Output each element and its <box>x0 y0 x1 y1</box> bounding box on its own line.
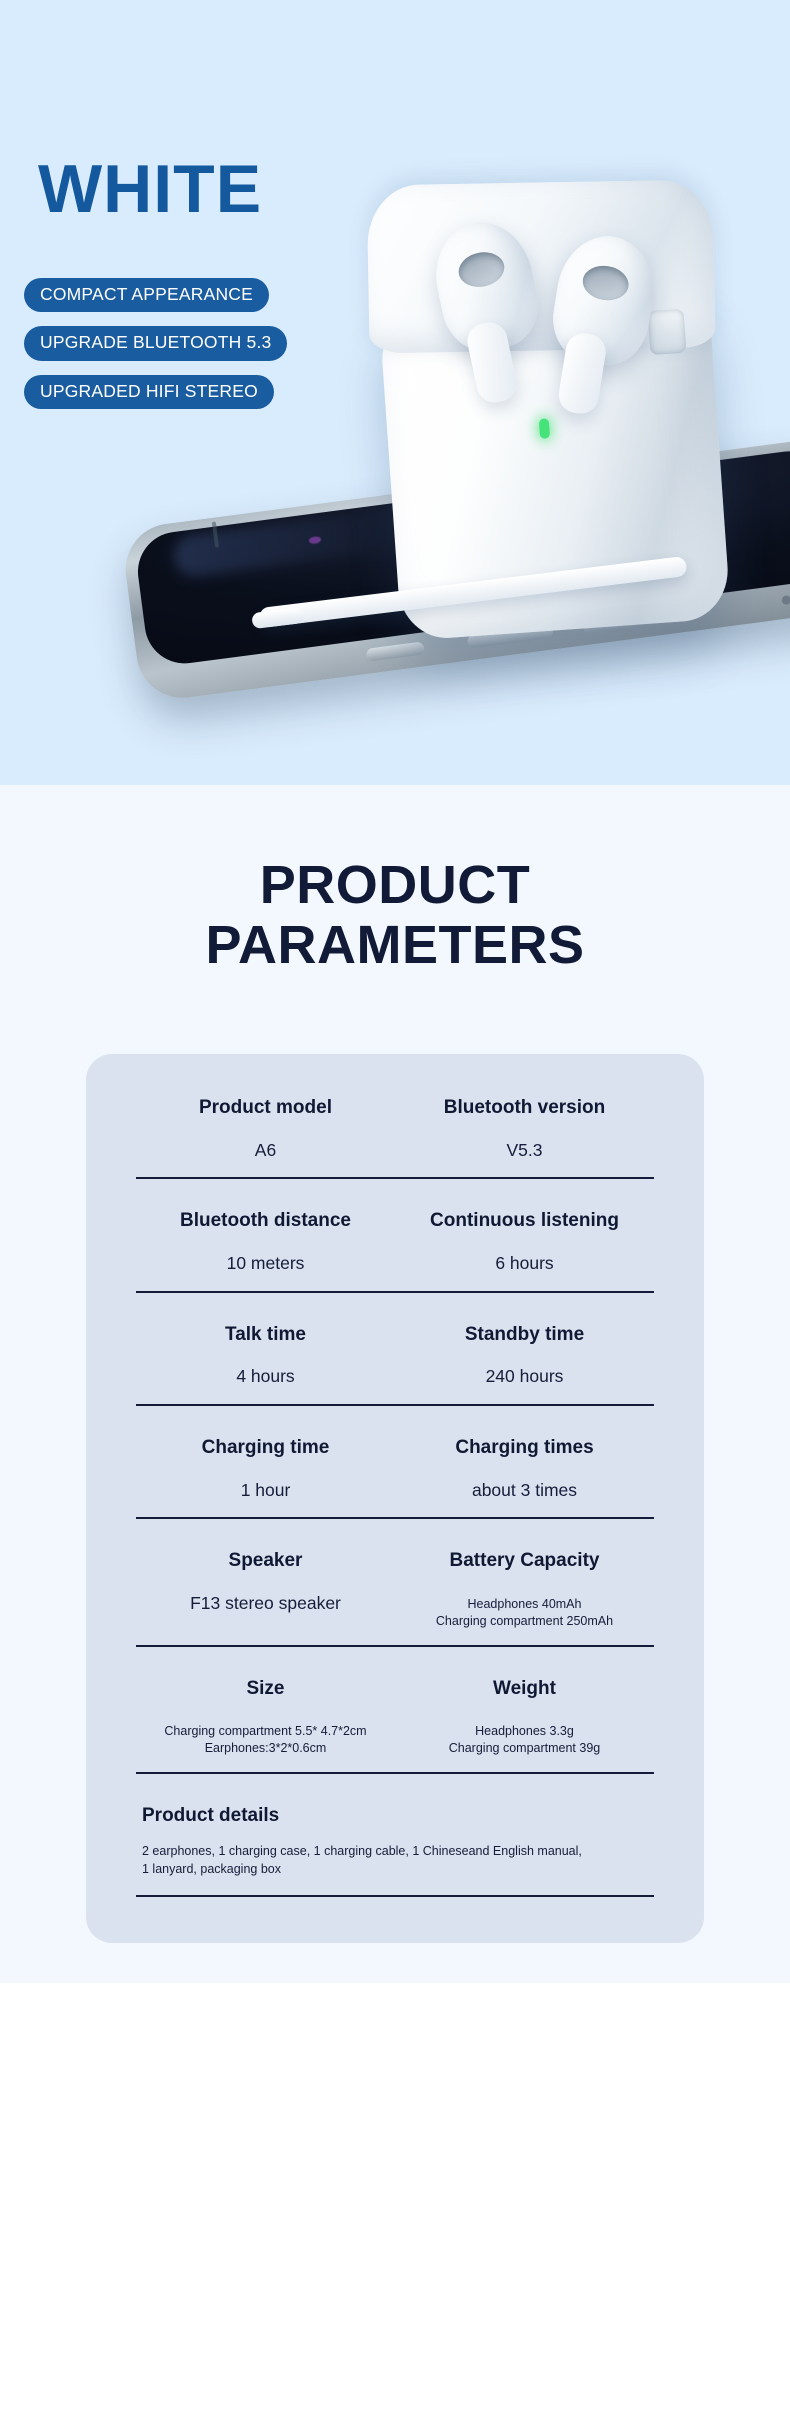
spec-cell-speaker: Speaker F13 stereo speaker <box>136 1549 395 1629</box>
spec-cell-battery-capacity: Battery Capacity Headphones 40mAhChargin… <box>395 1549 654 1629</box>
earbud-speaker-grille <box>455 248 507 291</box>
table-row: Bluetooth distance 10 meters Continuous … <box>136 1209 654 1292</box>
earbud-speaker-grille <box>580 263 631 304</box>
spec-value: F13 stereo speaker <box>140 1592 391 1616</box>
table-row: Size Charging compartment 5.5* 4.7*2cmEa… <box>136 1677 654 1774</box>
table-row: Charging time 1 hour Charging times abou… <box>136 1436 654 1519</box>
spec-cell-product-model: Product model A6 <box>136 1096 395 1162</box>
spec-label: Charging times <box>399 1436 650 1461</box>
spec-cell-weight: Weight Headphones 3.3gCharging compartme… <box>395 1677 654 1757</box>
spec-cell-talk-time: Talk time 4 hours <box>136 1323 395 1389</box>
spec-label: Speaker <box>140 1549 391 1574</box>
feature-badge-hifi-stereo: UPGRADED HIFI STEREO <box>24 375 274 409</box>
spec-value: Charging compartment 5.5* 4.7*2cmEarphon… <box>140 1723 391 1757</box>
spec-label: Bluetooth version <box>399 1096 650 1121</box>
feature-badge-compact-appearance: COMPACT APPEARANCE <box>24 278 269 312</box>
spec-label: Size <box>140 1677 391 1702</box>
lanyard-band <box>258 556 687 628</box>
spec-label: Talk time <box>140 1323 391 1348</box>
feature-badge-bluetooth: UPGRADE BLUETOOTH 5.3 <box>24 326 287 360</box>
hero-banner: WHITE COMPACT APPEARANCE UPGRADE BLUETOO… <box>0 0 790 785</box>
spec-label: Bluetooth distance <box>140 1209 391 1234</box>
spec-value: V5.3 <box>399 1139 650 1163</box>
spec-label: Standby time <box>399 1323 650 1348</box>
spec-table-card: Product model A6 Bluetooth version V5.3 … <box>86 1054 704 1943</box>
spec-cell-standby-time: Standby time 240 hours <box>395 1323 654 1389</box>
phone-speaker-hole <box>781 595 790 605</box>
spec-value: 2 earphones, 1 charging case, 1 charging… <box>136 1842 654 1880</box>
table-row: Talk time 4 hours Standby time 240 hours <box>136 1323 654 1406</box>
spec-cell-charging-times: Charging times about 3 times <box>395 1436 654 1502</box>
spec-value: A6 <box>140 1139 391 1163</box>
spec-cell-size: Size Charging compartment 5.5* 4.7*2cmEa… <box>136 1677 395 1757</box>
spec-cell-charging-time: Charging time 1 hour <box>136 1436 395 1502</box>
hero-title: WHITE <box>38 155 262 223</box>
spec-cell-continuous-listening: Continuous listening 6 hours <box>395 1209 654 1275</box>
charging-status-led-icon <box>539 418 550 439</box>
charging-case-hinge <box>647 309 686 355</box>
section-title-line-2: PARAMETERS <box>0 915 790 975</box>
table-row: Product model A6 Bluetooth version V5.3 <box>136 1096 654 1179</box>
spec-value: 240 hours <box>399 1365 650 1389</box>
table-row: Speaker F13 stereo speaker Battery Capac… <box>136 1549 654 1646</box>
spec-value: 6 hours <box>399 1252 650 1276</box>
spec-label: Battery Capacity <box>399 1549 650 1574</box>
spec-label: Charging time <box>140 1436 391 1461</box>
spec-label: Weight <box>399 1677 650 1702</box>
lanyard-tip <box>251 607 305 629</box>
spec-value: Headphones 40mAhCharging compartment 250… <box>399 1596 650 1630</box>
spec-cell-bluetooth-version: Bluetooth version V5.3 <box>395 1096 654 1162</box>
spec-cell-bluetooth-distance: Bluetooth distance 10 meters <box>136 1209 395 1275</box>
spec-value: about 3 times <box>399 1479 650 1503</box>
section-title-line-1: PRODUCT <box>260 855 531 915</box>
lanyard-strap <box>258 558 728 644</box>
spec-value: 10 meters <box>140 1252 391 1276</box>
spec-label: Continuous listening <box>399 1209 650 1234</box>
feature-badge-list: COMPACT APPEARANCE UPGRADE BLUETOOTH 5.3… <box>24 278 287 409</box>
section-title: PRODUCT PARAMETERS <box>0 855 790 976</box>
table-row-product-details: Product details 2 earphones, 1 charging … <box>136 1804 654 1897</box>
spec-label: Product details <box>136 1804 654 1829</box>
spec-label: Product model <box>140 1096 391 1121</box>
spec-value: Headphones 3.3gCharging compartment 39g <box>399 1723 650 1757</box>
product-parameters-section: PRODUCT PARAMETERS Product model A6 Blue… <box>0 785 790 1983</box>
spec-value: 1 hour <box>140 1479 391 1503</box>
spec-value: 4 hours <box>140 1365 391 1389</box>
